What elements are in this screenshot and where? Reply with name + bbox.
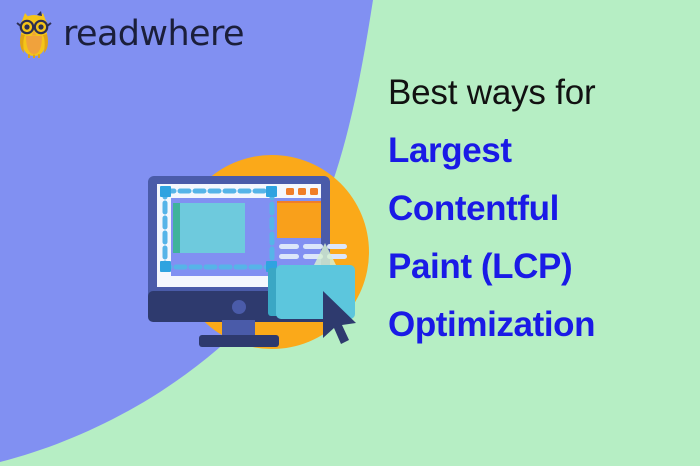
headline-line-2: Largest	[388, 122, 688, 180]
headline-line-1: Best ways for	[388, 64, 688, 122]
brand-name: readwhere	[63, 17, 244, 52]
poster-canvas: readwhere Best ways for Largest Contentf…	[0, 0, 700, 466]
headline-line-4: Paint (LCP)	[388, 238, 688, 296]
headline-line-5: Optimization	[388, 296, 688, 354]
headline-block: Best ways for Largest Contentful Paint (…	[388, 64, 688, 354]
owl-icon	[12, 10, 56, 58]
headline-line-3: Contentful	[388, 180, 688, 238]
brand-logo[interactable]: readwhere	[12, 10, 244, 58]
